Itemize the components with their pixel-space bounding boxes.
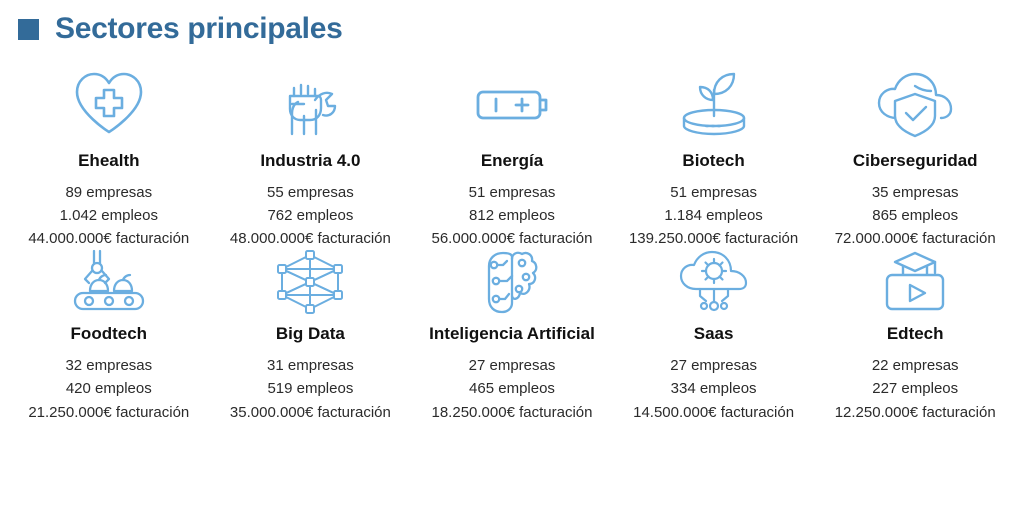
- stat-revenue: 72.000.000€ facturación: [835, 229, 996, 249]
- stat-jobs: 1.042 empleos: [28, 206, 189, 226]
- stat-revenue: 18.250.000€ facturación: [432, 403, 593, 423]
- sector-card-ciberseguridad: Ciberseguridad 35 empresas 865 empleos 7…: [814, 68, 1016, 249]
- page-title: Sectores principales: [55, 14, 342, 44]
- stat-companies: 51 empresas: [432, 183, 593, 203]
- stat-companies: 31 empresas: [230, 356, 391, 376]
- sector-stats: 22 empresas 227 empleos 12.250.000€ fact…: [835, 356, 996, 423]
- sector-name: Saas: [694, 325, 734, 344]
- stat-jobs: 465 empleos: [432, 379, 593, 399]
- fist-wrench-icon: [270, 68, 350, 140]
- stat-companies: 51 empresas: [629, 183, 798, 203]
- sector-card-saas: Saas 27 empresas 334 empleos 14.500.000€…: [613, 249, 815, 422]
- sector-name: Big Data: [276, 325, 345, 344]
- sector-stats: 51 empresas 812 empleos 56.000.000€ fact…: [432, 183, 593, 250]
- stat-revenue: 21.250.000€ facturación: [28, 403, 189, 423]
- heart-cross-icon: [69, 68, 149, 140]
- stat-companies: 27 empresas: [633, 356, 794, 376]
- stat-jobs: 519 empleos: [230, 379, 391, 399]
- stat-revenue: 56.000.000€ facturación: [432, 229, 593, 249]
- sectors-grid: Ehealth 89 empresas 1.042 empleos 44.000…: [0, 46, 1024, 423]
- sector-card-industria-40: Industria 4.0 55 empresas 762 empleos 48…: [210, 68, 412, 249]
- battery-icon: [470, 68, 554, 140]
- sector-stats: 35 empresas 865 empleos 72.000.000€ fact…: [835, 183, 996, 250]
- robot-arm-conveyor-icon: [67, 249, 151, 315]
- cloud-shield-check-icon: [873, 68, 957, 140]
- sector-name: Ciberseguridad: [853, 152, 978, 171]
- stat-revenue: 44.000.000€ facturación: [28, 229, 189, 249]
- sector-name: Foodtech: [71, 325, 148, 344]
- sector-stats: 51 empresas 1.184 empleos 139.250.000€ f…: [629, 183, 798, 250]
- sector-name: Inteligencia Artificial: [429, 325, 595, 344]
- sector-card-biotech: Biotech 51 empresas 1.184 empleos 139.25…: [613, 68, 815, 249]
- sector-stats: 55 empresas 762 empleos 48.000.000€ fact…: [230, 183, 391, 250]
- stat-companies: 55 empresas: [230, 183, 391, 203]
- sector-name: Edtech: [887, 325, 944, 344]
- sector-card-inteligencia-artificial: Inteligencia Artificial 27 empresas 465 …: [411, 249, 613, 422]
- stat-revenue: 139.250.000€ facturación: [629, 229, 798, 249]
- petri-dish-sprout-icon: [674, 68, 754, 140]
- network-hexagon-icon: [272, 249, 348, 315]
- stat-revenue: 48.000.000€ facturación: [230, 229, 391, 249]
- graduation-screen-play-icon: [877, 249, 953, 315]
- stat-companies: 27 empresas: [432, 356, 593, 376]
- stat-jobs: 227 empleos: [835, 379, 996, 399]
- sector-card-big-data: Big Data 31 empresas 519 empleos 35.000.…: [210, 249, 412, 422]
- sector-stats: 31 empresas 519 empleos 35.000.000€ fact…: [230, 356, 391, 423]
- sector-card-ehealth: Ehealth 89 empresas 1.042 empleos 44.000…: [8, 68, 210, 249]
- sector-name: Ehealth: [78, 152, 139, 171]
- stat-revenue: 14.500.000€ facturación: [633, 403, 794, 423]
- stat-companies: 89 empresas: [28, 183, 189, 203]
- cloud-gear-icon: [674, 249, 754, 315]
- sector-stats: 89 empresas 1.042 empleos 44.000.000€ fa…: [28, 183, 189, 250]
- header-bullet-square: [18, 19, 39, 40]
- stat-jobs: 812 empleos: [432, 206, 593, 226]
- stat-jobs: 1.184 empleos: [629, 206, 798, 226]
- sector-card-energia: Energía 51 empresas 812 empleos 56.000.0…: [411, 68, 613, 249]
- brain-circuit-icon: [481, 249, 543, 315]
- stat-companies: 22 empresas: [835, 356, 996, 376]
- stat-jobs: 865 empleos: [835, 206, 996, 226]
- sector-name: Biotech: [682, 152, 744, 171]
- sectors-infographic: Sectores principales Ehealth 89 empresas…: [0, 0, 1024, 510]
- sector-stats: 32 empresas 420 empleos 21.250.000€ fact…: [28, 356, 189, 423]
- sector-name: Energía: [481, 152, 543, 171]
- stat-companies: 32 empresas: [28, 356, 189, 376]
- sector-card-foodtech: Foodtech 32 empresas 420 empleos 21.250.…: [8, 249, 210, 422]
- stat-jobs: 420 empleos: [28, 379, 189, 399]
- stat-companies: 35 empresas: [835, 183, 996, 203]
- stat-jobs: 762 empleos: [230, 206, 391, 226]
- stat-jobs: 334 empleos: [633, 379, 794, 399]
- stat-revenue: 35.000.000€ facturación: [230, 403, 391, 423]
- sector-name: Industria 4.0: [260, 152, 360, 171]
- sector-card-edtech: Edtech 22 empresas 227 empleos 12.250.00…: [814, 249, 1016, 422]
- sector-stats: 27 empresas 334 empleos 14.500.000€ fact…: [633, 356, 794, 423]
- page-header: Sectores principales: [0, 0, 1024, 46]
- stat-revenue: 12.250.000€ facturación: [835, 403, 996, 423]
- sector-stats: 27 empresas 465 empleos 18.250.000€ fact…: [432, 356, 593, 423]
